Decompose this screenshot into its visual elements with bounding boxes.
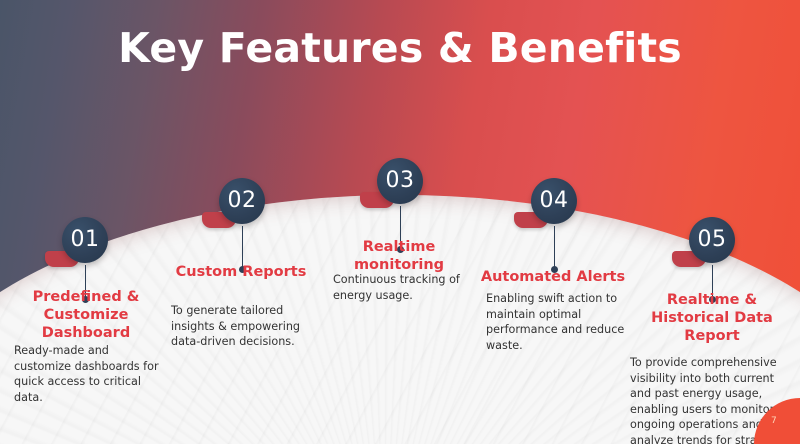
- pin-number-badge: 04: [531, 178, 577, 224]
- feature-heading: Realtime & Historical Data Report: [628, 291, 796, 345]
- slide-canvas: Key Features & Benefits 01 Predefined & …: [0, 0, 800, 444]
- feature-heading: Predefined & Customize Dashboard: [0, 288, 172, 342]
- pin-stem-line: [242, 226, 243, 268]
- feature-description: Enabling swift action to maintain optima…: [486, 291, 626, 353]
- pin-number-badge: 02: [219, 178, 265, 224]
- feature-heading: Automated Alerts: [472, 268, 634, 286]
- page-title: Key Features & Benefits: [0, 24, 800, 72]
- feature-heading: Realtime monitoring: [318, 238, 480, 274]
- feature-description: Ready-made and customize dashboards for …: [14, 343, 166, 405]
- pin-number-badge: 01: [62, 217, 108, 263]
- pin-number-badge: 05: [689, 217, 735, 263]
- feature-description: Continuous tracking of energy usage.: [333, 272, 479, 303]
- feature-description: To generate tailored insights & empoweri…: [171, 303, 323, 350]
- pin-stem-line: [554, 226, 555, 268]
- page-number-label: 7: [771, 416, 777, 426]
- pin-number-badge: 03: [377, 158, 423, 204]
- feature-heading: Custom Reports: [160, 263, 322, 281]
